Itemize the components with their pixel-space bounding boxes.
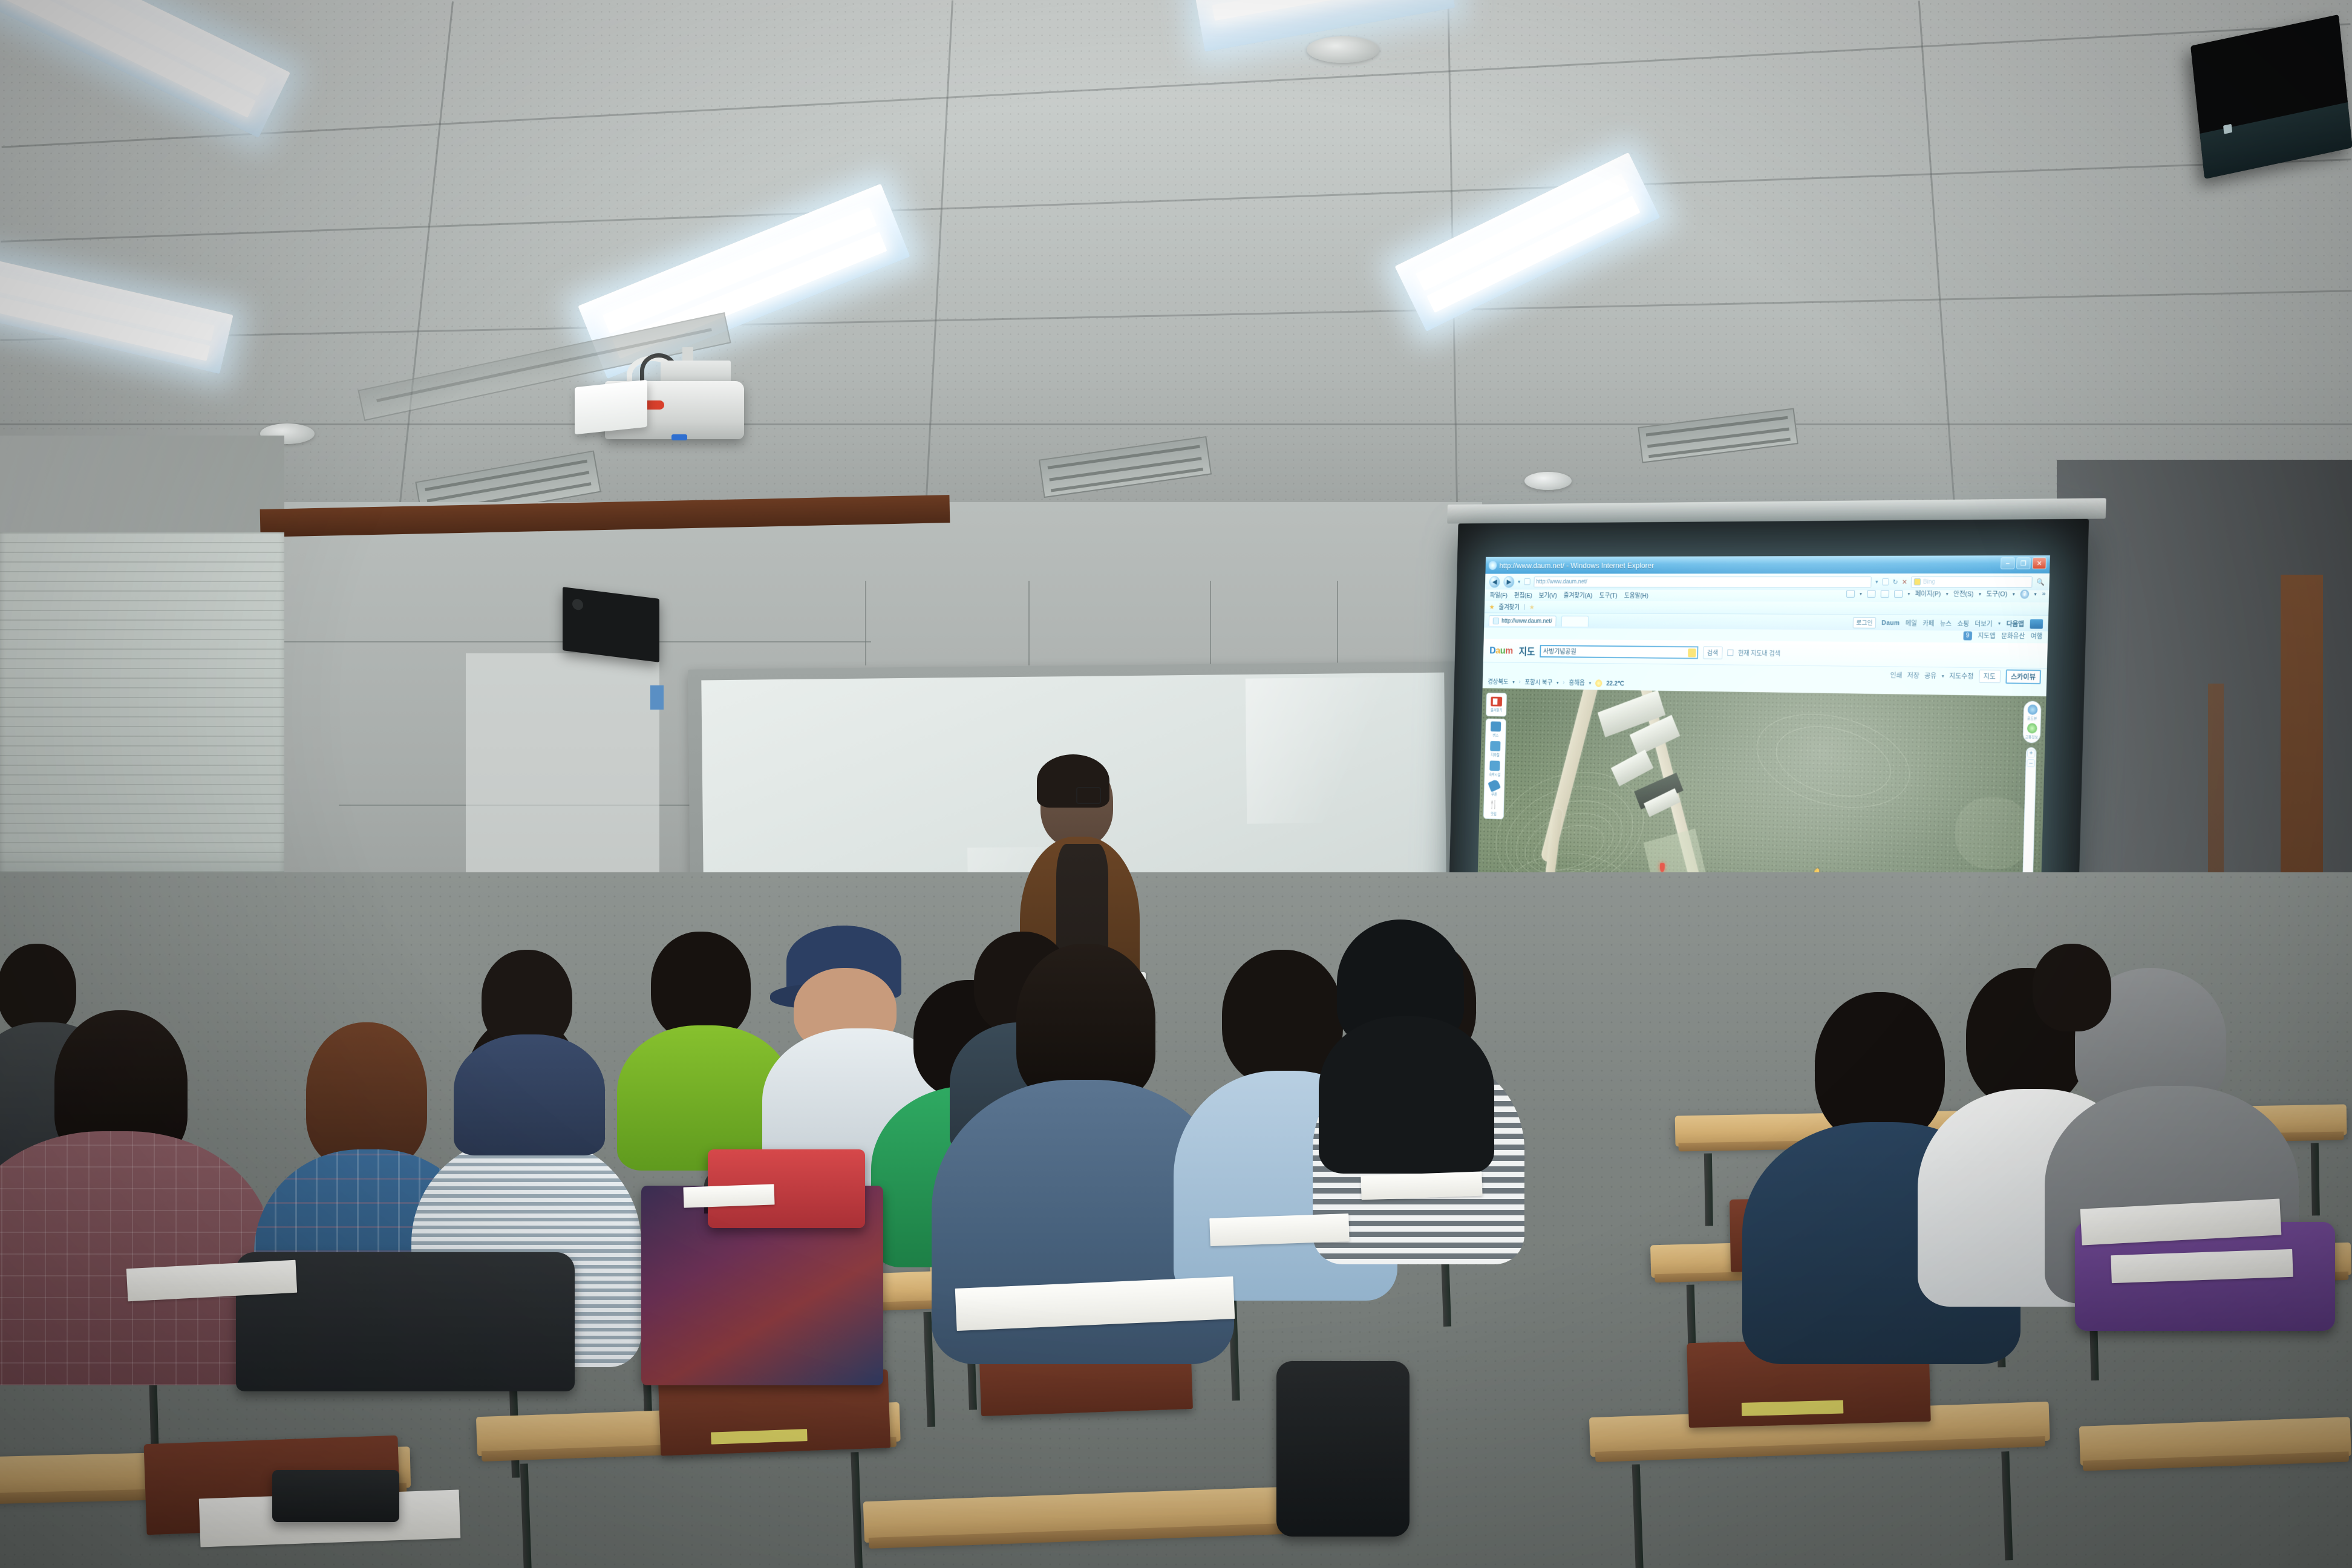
tag-icon (1488, 779, 1501, 792)
forward-button[interactable]: ▶ (1503, 576, 1514, 588)
wall-speaker (563, 587, 659, 662)
minimize-button[interactable]: – (2001, 557, 2015, 569)
close-button[interactable]: ✕ (2032, 557, 2047, 569)
restaurant-icon: 🍴 (1489, 800, 1499, 810)
map-action-bar[interactable]: 인쇄 저장 공유 ▾ 지도수정 지도 스카이뷰 (1890, 668, 2041, 684)
worksheet (1361, 1172, 1482, 1200)
menu-edit[interactable]: 편집(E) (1514, 590, 1532, 599)
search-icon[interactable]: 🔍 (2036, 578, 2045, 586)
bus-icon (1491, 721, 1501, 731)
daum-top-nav[interactable]: 로그인 Daum 메일 카페 뉴스 쇼핑 더보기 ▾ 다음앱 (1853, 617, 2043, 629)
add-favorite-icon[interactable]: ★ (1529, 603, 1535, 611)
toggle-skyview[interactable]: 스카이뷰 (2005, 670, 2041, 685)
print-icon[interactable] (1894, 590, 1903, 598)
rb-label-1: 교통정보 (2025, 734, 2039, 739)
classroom-scene: http://www.daum.net/ - Windows Internet … (0, 0, 2352, 1568)
worksheet (1209, 1214, 1349, 1246)
nav-daum[interactable]: Daum (1881, 619, 1900, 627)
menu-view[interactable]: 보기(V) (1539, 590, 1557, 599)
roadview-icon (2027, 705, 2037, 715)
page-icon (1524, 578, 1530, 585)
ie-command-bar[interactable]: ▾ ▾ 페이지(P) ▾ 안전(S) ▾ 도구(O) ▾ ? ▾ » (1846, 586, 2046, 601)
map-category-subway[interactable]: 지하철 (1490, 741, 1501, 757)
map-favorite-button[interactable]: 즐겨찾기 (1486, 693, 1507, 717)
cmd-tools[interactable]: 도구(O) (1986, 589, 2007, 599)
notebook (683, 1184, 774, 1207)
back-button[interactable]: ◀ (1489, 576, 1500, 587)
lb-label-0: 즐겨찾기 (1491, 707, 1502, 713)
window-blind (0, 532, 284, 901)
ie-logo-icon (1489, 561, 1497, 570)
search-box[interactable]: Bing (1911, 576, 2033, 587)
map-pin-icon: 9 (1963, 631, 1972, 640)
ie-title-bar: http://www.daum.net/ - Windows Internet … (1485, 555, 2050, 574)
student (1325, 920, 1482, 1101)
backpack (1276, 1361, 1410, 1537)
daum-app-badge[interactable]: 다음앱 (2006, 619, 2024, 629)
chevron-down-icon[interactable]: ▾ (1518, 578, 1520, 584)
subway-icon (1490, 741, 1500, 751)
read-mail-icon[interactable] (1880, 590, 1889, 598)
map-breadcrumb[interactable]: 경상북도 ▾› 포항시 북구 ▾› 흥해읍 ▾ 22.2℃ (1488, 677, 1624, 688)
cmd-safety[interactable]: 안전(S) (1953, 589, 1974, 599)
student (448, 950, 605, 1107)
search-provider-icon (1914, 578, 1921, 586)
projector-lens (575, 380, 647, 435)
address-input[interactable]: http://www.daum.net/ (1534, 576, 1872, 587)
search-keyboard-icon[interactable] (1688, 648, 1696, 657)
daum-sub-nav[interactable]: 9 지도앱 문화유산 여행 (1963, 631, 2042, 641)
traffic-toggle[interactable]: 교통정보 (2025, 723, 2039, 739)
nav-mail[interactable]: 메일 (1906, 618, 1917, 628)
help-icon[interactable]: ? (2020, 589, 2029, 598)
whiteboard-glare (1246, 676, 1446, 823)
breadcrumb-city[interactable]: 포항시 북구 (1524, 678, 1552, 687)
map-search-value: 사방기념공원 (1543, 646, 1576, 655)
wall-notice (650, 685, 664, 710)
home-icon[interactable] (1846, 590, 1855, 598)
daum-map-search-row: Daum 지도 사방기념공원 검색 현재 지도내 검색 (1483, 639, 2048, 668)
temperature-label: 22.2℃ (1606, 679, 1624, 687)
cmd-page[interactable]: 페이지(P) (1915, 589, 1941, 599)
smoke-detector (1307, 36, 1379, 63)
overflow-icon[interactable]: » (2042, 590, 2045, 598)
student-plaid-shirt (0, 1131, 272, 1385)
instructor-glasses (1045, 776, 1112, 812)
favorites-label[interactable]: 즐겨찾기 (1498, 602, 1520, 611)
map-category-lodging[interactable]: 숙박시설 (1489, 760, 1501, 777)
map-category-coupon[interactable]: 쿠폰 (1489, 780, 1500, 797)
map-category-restaurant[interactable]: 🍴 맛집 (1488, 800, 1499, 816)
window-controls[interactable]: – ❐ ✕ (2001, 557, 2047, 569)
favorites-star-icon[interactable]: ★ (1489, 603, 1494, 610)
rb-label-0: 로드뷰 (2027, 715, 2037, 720)
login-button[interactable]: 로그인 (1853, 617, 1877, 629)
student (617, 932, 786, 1125)
maximize-button[interactable]: ❐ (2016, 557, 2031, 569)
daum-map-wordmark: 지도 (1519, 644, 1535, 658)
menu-tools[interactable]: 도구(T) (1599, 591, 1617, 600)
search-in-view-label: 현재 지도내 검색 (1738, 648, 1780, 658)
subnav-mapapp[interactable]: 지도앱 (1978, 631, 1996, 641)
traffic-icon (2027, 723, 2037, 733)
nav-news[interactable]: 뉴스 (1940, 618, 1952, 628)
map-search-input[interactable]: 사방기념공원 (1540, 645, 1698, 659)
rss-icon[interactable] (1882, 578, 1889, 586)
desk (2079, 1417, 2352, 1541)
breadcrumb-town[interactable]: 흥해읍 (1569, 678, 1585, 687)
nav-shopping[interactable]: 쇼핑 (1957, 618, 1969, 628)
new-tab-button[interactable] (1561, 615, 1589, 626)
flag-icon (1491, 697, 1502, 707)
address-value: http://www.daum.net/ (1536, 578, 1587, 585)
ceiling (0, 0, 2352, 544)
feeds-icon[interactable] (1867, 590, 1875, 598)
map-category-bus[interactable]: 버스 (1491, 721, 1501, 737)
toggle-map-view[interactable]: 지도 (1979, 670, 2001, 683)
smoke-detector (1524, 472, 1572, 490)
action-edit-map[interactable]: 지도수정 (1949, 671, 1974, 681)
search-placeholder: Bing (1923, 578, 1935, 586)
subnav-heritage[interactable]: 문화유산 (2001, 631, 2025, 641)
browser-tab[interactable]: http://www.daum.net/ (1489, 615, 1557, 626)
lb-label-2: 지하철 (1491, 752, 1500, 758)
sun-icon (1595, 679, 1602, 687)
zoom-step-minus[interactable]: – (2027, 759, 2035, 767)
projector-indicator (671, 434, 687, 440)
stop-icon[interactable]: ✕ (1902, 578, 1907, 586)
roadview-toggle[interactable]: 로드뷰 (2027, 705, 2037, 721)
search-in-view-checkbox[interactable] (1727, 650, 1733, 656)
lb-label-3: 숙박시설 (1489, 771, 1500, 777)
tab-favicon (1493, 617, 1499, 624)
menu-file[interactable]: 파일(F) (1490, 590, 1508, 599)
daum-logo[interactable]: Daum (1489, 645, 1513, 656)
breadcrumb-province[interactable]: 경상북도 (1488, 677, 1509, 686)
refresh-icon[interactable]: ↻ (1893, 578, 1898, 586)
action-print[interactable]: 인쇄 (1890, 670, 1902, 680)
subnav-travel[interactable]: 여행 (2031, 631, 2043, 641)
desk (863, 1487, 1291, 1568)
action-share[interactable]: 공유 (1924, 671, 1936, 681)
zoom-in-button[interactable]: + (2027, 750, 2036, 757)
lb-label-1: 버스 (1492, 732, 1498, 737)
map-category-toolbar[interactable]: 즐겨찾기 버스 지하철 (1482, 693, 1508, 820)
window-title: http://www.daum.net/ - Windows Internet … (1499, 561, 1654, 570)
lb-label-5: 맛집 (1491, 811, 1497, 817)
daum-app-icon[interactable] (2030, 619, 2043, 629)
nav-more[interactable]: 더보기 (1975, 619, 1993, 629)
address-dropdown-icon[interactable]: ▾ (1875, 578, 1878, 585)
student (2014, 944, 2123, 1065)
tab-label: http://www.daum.net/ (1501, 618, 1552, 625)
building-icon (1489, 760, 1500, 771)
menu-favorites[interactable]: 즐겨찾기(A) (1564, 591, 1593, 600)
map-search-button[interactable]: 검색 (1703, 646, 1723, 659)
menu-help[interactable]: 도움말(H) (1624, 591, 1648, 600)
nav-cafe[interactable]: 카페 (1922, 618, 1935, 628)
pencil-case (272, 1470, 399, 1522)
action-save[interactable]: 저장 (1907, 671, 1919, 681)
